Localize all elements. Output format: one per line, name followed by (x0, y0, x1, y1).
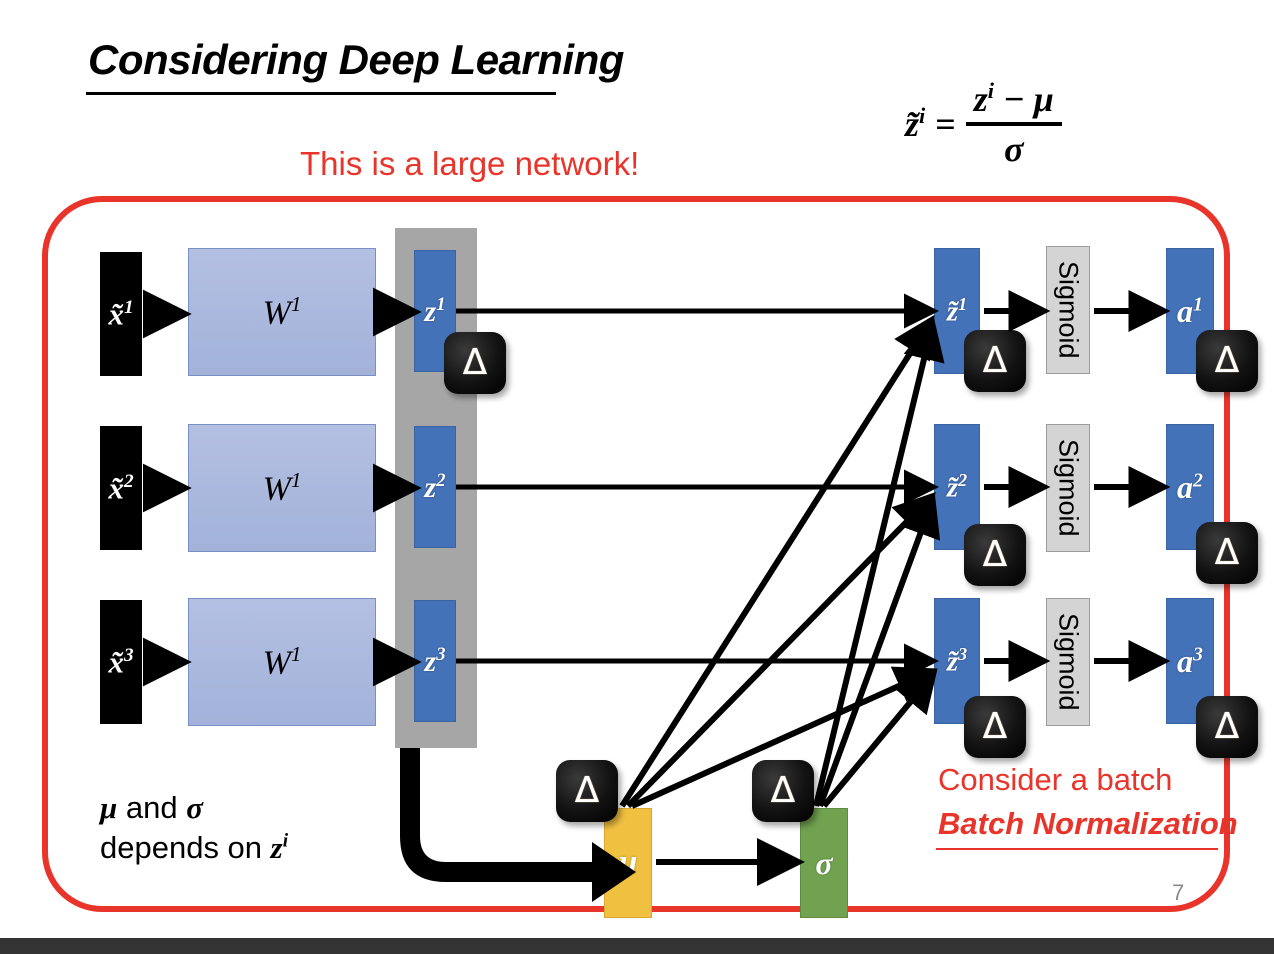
weight-label-row3: W1 (263, 644, 302, 680)
sigmoid-label-row3: Sigmoid (1053, 613, 1084, 711)
z-label-row2: z2 (425, 472, 446, 503)
sigmoid-block-row3[interactable]: Sigmoid (1046, 598, 1090, 726)
ztilde-label-row2: z̃2 (947, 471, 967, 503)
delta-icon: Δ (983, 709, 1008, 745)
delta-icon: Δ (1215, 343, 1240, 379)
sigma-block[interactable]: σ (800, 808, 848, 918)
delta-icon: Δ (771, 773, 796, 809)
mu-sigma-note-line1: μ and σ (100, 788, 288, 828)
sigmoid-block-row2[interactable]: Sigmoid (1046, 424, 1090, 552)
delta-icon: Δ (983, 343, 1008, 379)
input-label-row3: x̃3 (108, 646, 133, 677)
formula-equals: = (935, 103, 956, 145)
consider-batch-caption: Consider a batch (938, 762, 1172, 798)
delta-icon: Δ (983, 537, 1008, 573)
page-title: Considering Deep Learning (88, 36, 624, 84)
title-underline (86, 92, 556, 95)
delta-badge-z1[interactable]: Δ (444, 332, 506, 394)
delta-badge-ztilde3[interactable]: Δ (964, 696, 1026, 758)
mu-sigma-note-line2: depends on zi (100, 828, 288, 868)
sigmoid-label-row2: Sigmoid (1053, 439, 1084, 537)
sigmoid-block-row1[interactable]: Sigmoid (1046, 246, 1090, 374)
ztilde-label-row3: z̃3 (947, 645, 967, 677)
batch-normalization-caption: Batch Normalization (938, 806, 1238, 842)
delta-badge-a1[interactable]: Δ (1196, 330, 1258, 392)
delta-icon: Δ (463, 345, 488, 381)
input-label-row1: x̃1 (108, 298, 133, 329)
mu-block[interactable]: μ (604, 808, 652, 918)
weight-block-row2[interactable]: W1 (188, 424, 376, 552)
sigmoid-label-row1: Sigmoid (1053, 261, 1084, 359)
batch-normalization-underline (936, 848, 1218, 850)
mu-sigma-note: μ and σ depends on zi (100, 788, 288, 867)
delta-badge-a3[interactable]: Δ (1196, 696, 1258, 758)
delta-badge-ztilde1[interactable]: Δ (964, 330, 1026, 392)
delta-badge-a2[interactable]: Δ (1196, 522, 1258, 584)
sigma-label: σ (815, 847, 832, 879)
z-label-row1: z1 (425, 296, 446, 327)
delta-icon: Δ (1215, 709, 1240, 745)
z-block-row3[interactable]: z3 (414, 600, 456, 722)
activation-label-row3: a3 (1177, 645, 1203, 677)
input-block-row1[interactable]: x̃1 (100, 252, 142, 376)
ztilde-label-row1: z̃1 (947, 295, 967, 327)
z-block-row2[interactable]: z2 (414, 426, 456, 548)
z-label-row3: z3 (425, 646, 446, 677)
delta-icon: Δ (575, 773, 600, 809)
activation-label-row1: a1 (1177, 295, 1203, 327)
input-block-row2[interactable]: x̃2 (100, 426, 142, 550)
slide-canvas: Considering Deep Learning This is a larg… (0, 0, 1274, 954)
input-label-row2: x̃2 (108, 472, 133, 503)
bottom-bar (0, 938, 1274, 954)
mu-label: μ (619, 846, 638, 880)
formula-numerator: zi − μ (966, 78, 1062, 122)
formula-denominator: σ (996, 126, 1031, 170)
page-number: 7 (1172, 880, 1184, 906)
input-block-row3[interactable]: x̃3 (100, 600, 142, 724)
weight-label-row1: W1 (263, 294, 302, 330)
network-size-caption: This is a large network! (300, 145, 639, 183)
delta-badge-ztilde2[interactable]: Δ (964, 524, 1026, 586)
delta-badge-sigma[interactable]: Δ (752, 760, 814, 822)
activation-label-row2: a2 (1177, 471, 1203, 503)
weight-label-row2: W1 (263, 470, 302, 506)
normalization-formula: z̃i = zi − μ σ (905, 78, 1062, 170)
weight-block-row3[interactable]: W1 (188, 598, 376, 726)
delta-badge-mu[interactable]: Δ (556, 760, 618, 822)
formula-lhs: z̃i (905, 103, 925, 145)
formula-fraction: zi − μ σ (966, 78, 1062, 170)
delta-icon: Δ (1215, 535, 1240, 571)
weight-block-row1[interactable]: W1 (188, 248, 376, 376)
